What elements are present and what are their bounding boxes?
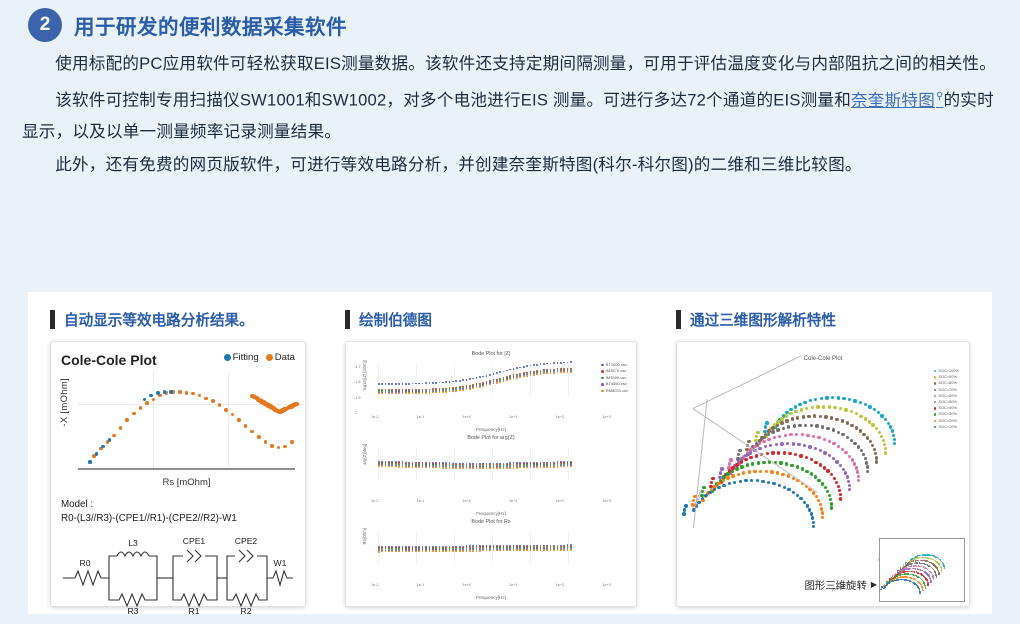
three-d-point [828,454,831,457]
three-d-point [928,554,930,556]
three-d-point [830,473,833,476]
three-d-point [726,472,729,475]
bode-ytick: -1.8 [354,380,361,384]
bode-point [412,383,414,385]
three-d-point [719,471,722,474]
bode-point [462,467,464,469]
bode-point [557,466,559,468]
bode-point [388,393,390,395]
cole-cole-plot-area [78,372,295,468]
card-bode-plot: 绘制伯德图 Bode Plot for |Z| log10(|Z| [Ohm])… [345,306,637,607]
three-d-point [761,480,764,483]
body-copy: 使用标配的PC应用软件可轻松获取EIS测量数据。该软件还支持定期间隔测量，可用于… [0,42,1020,180]
bode-point [570,466,572,468]
three-d-thumbnail[interactable] [879,538,965,602]
bode-point [415,392,417,394]
three-d-point [911,571,913,573]
three-d-point [922,590,924,592]
search-icon: ⚲ [936,91,944,102]
three-d-point [740,465,743,468]
three-d-point [778,435,781,438]
bode-legend-dot [601,390,604,393]
three-d-point [820,397,823,400]
three-d-point [894,580,896,582]
three-d-point [844,451,847,454]
circuit-label-r3: R3 [128,606,139,616]
three-d-point [838,489,841,492]
three-d-point [873,448,876,451]
bode-point [388,466,390,468]
three-d-point [839,407,842,410]
three-d-point [882,439,885,442]
bode-point [476,377,478,379]
three-d-point [803,444,806,447]
bode-point [543,549,545,551]
three-d-point [837,396,840,399]
three-d-point [791,417,794,420]
bode-point [523,467,525,469]
three-d-point [883,588,885,590]
three-d-point [810,472,813,475]
bode-point [439,382,441,384]
bode-point [432,550,434,552]
bode-subplot-rs: Bode Plot for Rs Rs[Ohm] 1e-21e-11e+01e+… [352,516,630,600]
three-d-point [747,440,750,443]
circuit-label-l3: L3 [128,538,138,548]
page-title: 用于研发的便利数据采集软件 [74,10,347,40]
bode-point [503,550,505,552]
paragraph-1: 使用标配的PC应用软件可轻松获取EIS测量数据。该软件还支持定期间隔测量，可用于… [22,48,998,79]
three-d-point [850,424,853,427]
three-d-point [821,511,824,514]
three-d-point [810,458,813,461]
bode-point [452,550,454,552]
three-d-point [722,484,725,487]
bode-xtick: 1e-2 [371,583,379,587]
bode-point [509,378,511,380]
three-d-point [859,401,862,404]
bode-point [523,376,525,378]
bode-point [466,379,468,381]
three-d-point [897,579,899,581]
three-d-point [875,460,878,463]
three-d-point [807,415,810,418]
cole-cole-point [108,438,112,442]
bode-point [385,551,387,553]
three-d-point [917,557,919,559]
three-d-point [904,573,906,575]
bode-xtick: 1e+3 [602,583,611,587]
cole-cole-point [163,390,167,394]
bode-point [550,549,552,551]
three-d-legend-dot [934,376,936,378]
three-d-point [933,579,935,581]
cole-cole-point [125,418,129,422]
bode-point [503,467,505,469]
three-d-point [792,491,795,494]
three-d-point [909,580,911,582]
three-d-point [835,481,838,484]
three-d-point [914,565,916,567]
three-d-point [776,471,779,474]
bode-xtick: 1e+0 [462,499,471,503]
three-d-point [817,479,820,482]
three-d-point [891,429,894,432]
three-d-point [913,578,915,580]
three-d-legend-dot [934,426,936,428]
cole-cole-point [132,412,136,416]
three-d-point [871,423,874,426]
bode-point [432,392,434,394]
bode-point [526,375,528,377]
three-d-point [919,566,921,568]
bode-point [402,466,404,468]
three-d-point [809,399,812,402]
three-d-legend-dot [934,389,936,391]
three-d-point [900,576,902,578]
bode-point [432,467,434,469]
three-d-point [855,426,858,429]
three-d-point [853,399,856,402]
bode-point [560,371,562,373]
three-d-point [684,504,687,507]
three-d-point [828,405,831,408]
three-d-point [893,442,896,445]
three-d-point [814,447,817,450]
bode-point [570,371,572,373]
cole-cole-xlabel: Rs [mOhm] [78,477,295,488]
three-d-point [790,464,793,467]
section-heading: 2 用于研发的便利数据采集软件 [0,0,1020,42]
bode-point [530,467,532,469]
three-d-point [801,467,804,470]
three-d-point [749,456,752,459]
three-d-point [844,408,847,411]
cole-cole-point [169,390,173,394]
three-d-legend-label: SOC=10% [938,424,957,430]
three-d-point [775,443,778,446]
three-d-point [757,461,760,464]
three-d-point [934,571,936,573]
three-d-point [814,461,817,464]
three-d-point [766,452,769,455]
bode-point [516,367,518,369]
three-d-point [830,506,833,509]
three-d-point [803,501,806,504]
cole-cole-point [156,391,160,395]
bode-point [546,372,548,374]
bode-point [442,550,444,552]
three-d-point [866,470,869,473]
bode-point [459,390,461,392]
bode-subplot-3-canvas: 1e-21e-11e+01e+11e+21e+3 [352,527,630,589]
card-3-title: 通过三维图形解析特性 [690,309,836,330]
bode-point [398,393,400,395]
three-d-point [884,418,887,421]
three-d-point [842,397,845,400]
page-root: 2 用于研发的便利数据采集软件 使用标配的PC应用软件可轻松获取EIS测量数据。… [0,0,1020,624]
three-d-point [810,424,813,427]
three-d-point [925,560,927,562]
play-arrow-icon: ▶ [871,580,877,589]
cole-cole-plot: -X [mOhm] Rs [mOhm] [61,372,295,484]
three-d-point [932,575,934,577]
bode-point [550,466,552,468]
bode-point [378,383,380,385]
three-d-point [808,445,811,448]
three-d-point [769,444,772,447]
three-d-point [802,415,805,418]
cole-cole-point [244,424,248,428]
section-number-badge: 2 [28,8,62,42]
three-d-point [902,576,904,578]
cole-cole-point [290,440,294,444]
three-d-point [796,416,799,419]
bode-xtick: 1e+1 [509,583,518,587]
rotate-3d-cta[interactable]: 图形三维旋转 ▶ [805,577,878,592]
card-2-body: Bode Plot for |Z| log10(|Z| [Ohm]) 1e-21… [345,341,637,607]
three-d-point [913,565,915,567]
three-d-point [776,428,779,431]
bode-point [560,549,562,551]
three-d-point [901,579,903,581]
bode-point [425,382,427,384]
three-d-point [735,463,738,466]
cole-cole-point [294,402,299,407]
three-d-point [708,491,711,494]
bode-xtick: 1e-2 [371,499,379,503]
three-d-point [789,408,792,411]
three-d-point [731,470,734,473]
three-d-point [866,465,869,468]
three-d-point [819,415,822,418]
three-d-point [896,579,898,581]
three-d-point [823,451,826,454]
bode-point [422,392,424,394]
bode-point [550,363,552,365]
bode-subplot-3-xlabel: Frequency[Hz] [352,595,630,600]
bode-subplot-z: Bode Plot for |Z| log10(|Z| [Ohm]) 1e-21… [352,348,630,432]
three-d-point [806,504,809,507]
three-d-point [742,471,745,474]
three-d-point [735,467,738,470]
bode-point [435,467,437,469]
bode-point [466,467,468,469]
three-d-point [817,499,820,502]
legend-label-fitting: Fitting [233,352,259,363]
model-block: Model : R0-(L3//R3)-(CPE1//R1)-(CPE2//R2… [61,498,295,526]
bode-point [402,393,404,395]
three-d-point [771,430,774,433]
three-d-axis-line [693,355,801,409]
three-d-point [821,482,824,485]
three-d-point [812,521,815,524]
three-d-point [758,447,761,450]
bode-xtick: 1e+0 [462,415,471,419]
circuit-label-r0: R0 [80,558,91,568]
three-d-point [833,406,836,409]
nyquist-link-label: 奈奎斯特图 [851,91,935,110]
card-2-title: 绘制伯德图 [359,309,432,330]
bode-point [412,466,414,468]
bode-point [540,549,542,551]
bode-point [442,467,444,469]
three-d-point [927,564,929,566]
feature-panel: 自动显示等效电路分析结果。 Cole-Cole Plot Fitting [28,292,992,614]
three-d-point [756,431,759,434]
bode-point [550,372,552,374]
three-d-point [833,477,836,480]
three-d-point [846,475,849,478]
bode-xtick: 1e+3 [602,415,611,419]
bode-point [499,550,501,552]
three-d-point [755,435,758,438]
three-d-point [771,426,774,429]
model-label: Model : [61,498,295,512]
bode-point [509,369,511,371]
card-2-header: 绘制伯德图 [345,306,637,332]
bode-point [385,393,387,395]
bode-point [482,385,484,387]
bode-point [408,551,410,553]
bode-point [496,467,498,469]
three-d-point [837,431,840,434]
bode-point [523,366,525,368]
three-d-point [744,479,747,482]
bode-point [442,391,444,393]
bode-xtick: 1e+2 [556,499,565,503]
three-d-point [810,512,813,515]
three-d-point [875,456,878,459]
three-d-point [812,525,815,528]
cole-cole-point [277,446,281,450]
three-d-point [922,557,924,559]
three-d-point [915,560,917,562]
legend-dot-data [266,354,273,361]
bode-xtick: 1e-1 [417,415,425,419]
bode-point [395,393,397,395]
three-d-point [710,481,713,484]
bode-point [526,549,528,551]
bode-point [516,549,518,551]
three-d-point [919,562,921,564]
three-d-point [905,571,907,573]
card-3-header: 通过三维图形解析特性 [676,306,970,332]
bode-point [455,390,457,392]
cole-cole-point [119,426,123,430]
three-d-point [796,465,799,468]
three-d-point [920,573,922,575]
bode-point [516,377,518,379]
bode-ytick: -1.9 [354,396,361,400]
bode-point [462,389,464,391]
three-d-point [938,558,940,560]
bode-xtick: 1e-1 [417,499,425,503]
three-d-point [746,463,749,466]
bode-point [499,467,501,469]
three-d-point [841,433,844,436]
bode-point [462,550,464,552]
three-d-point [767,438,770,441]
bode-point [533,467,535,469]
three-d-point [784,434,787,437]
three-d-point [916,571,918,573]
bode-point [536,549,538,551]
bode-point [398,551,400,553]
three-d-point [909,577,911,579]
three-d-point [934,560,936,562]
circuit-label-cpe1: CPE1 [183,536,206,546]
three-d-point [744,454,747,457]
bode-point [506,550,508,552]
three-d-point [918,569,920,571]
bode-legend-dot [601,383,604,386]
bode-point [422,466,424,468]
three-d-point [713,488,716,491]
circuit-label-w1: W1 [274,558,287,568]
three-d-point [804,424,807,427]
bode-point [482,550,484,552]
cole-cole-point [198,394,202,398]
bode-point [476,467,478,469]
three-d-point [798,424,801,427]
three-d-point [839,493,842,496]
three-d-point [737,473,740,476]
three-d-point [888,582,890,584]
cole-cole-point [152,398,156,402]
bode-point [493,467,495,469]
bode-point [381,383,383,385]
circuit-label-cpe2: CPE2 [235,536,258,546]
three-d-point [864,403,867,406]
three-d-point [800,408,803,411]
bode-point [378,551,380,553]
three-d-point [930,582,932,584]
bode-point [499,371,501,373]
bode-point [533,374,535,376]
three-d-point [842,468,845,471]
bode-point [412,551,414,553]
bode-subplot-stack: Bode Plot for |Z| log10(|Z| [Ohm]) 1e-21… [352,348,630,600]
bode-point [513,368,515,370]
three-d-point [787,488,790,491]
bode-point [449,467,451,469]
bode-point [476,387,478,389]
three-d-point [932,563,934,565]
three-d-point [821,425,824,428]
three-d-legend-item: SOC=10% [934,424,959,430]
bode-point [479,467,481,469]
three-d-point [756,479,759,482]
nyquist-plot-link[interactable]: 奈奎斯特图⚲ [851,91,944,110]
bode-point [452,467,454,469]
bode-point [553,549,555,551]
three-d-point [817,436,820,439]
bode-point [408,383,410,385]
three-d-point [815,495,818,498]
bode-point [563,371,565,373]
three-d-point [726,476,729,479]
bode-point [533,549,535,551]
three-d-legend-dot [934,420,936,422]
three-d-point [944,568,946,570]
three-d-point [771,451,774,454]
bode-point [388,551,390,553]
three-d-point [929,571,931,573]
bode-point [557,372,559,374]
three-d-point [844,471,847,474]
bode-point [486,467,488,469]
